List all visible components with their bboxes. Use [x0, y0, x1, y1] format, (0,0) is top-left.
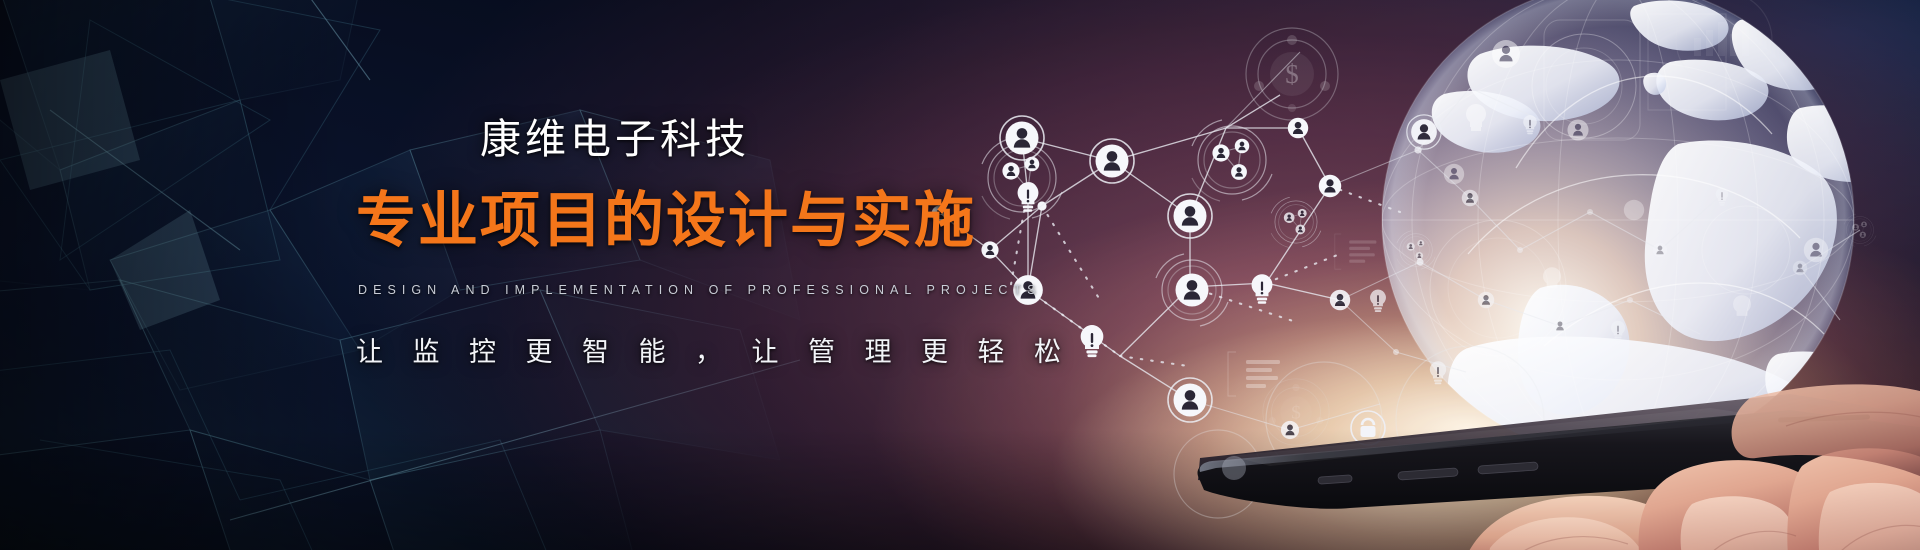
lightbulb-icon: [1252, 274, 1273, 304]
tagline: 让 监 控 更 智 能 ， 让 管 理 更 轻 松: [356, 330, 1072, 369]
person-icon: [1552, 318, 1567, 333]
bar-chart-icon: [1676, 0, 1772, 88]
person-icon: [1330, 290, 1350, 310]
person-icon: [1090, 139, 1134, 183]
network-cluster-icon: [1156, 254, 1228, 326]
person-icon: [1653, 243, 1668, 258]
dollar-icon: [1246, 28, 1338, 120]
lightbulb-icon: [1370, 290, 1386, 312]
person-icon: [1168, 194, 1212, 238]
brand-title: 康维电子科技: [480, 105, 750, 165]
lightbulb-icon: [1018, 182, 1039, 212]
page-title: 专业项目的设计与实施: [356, 172, 976, 259]
hero-banner: .ln { stroke:#e9eaf0; stroke-opacity:.80…: [0, 0, 1920, 550]
person-icon: [1478, 292, 1495, 309]
bar-chart-icon: [1335, 234, 1377, 269]
lightbulb-icon: [1611, 321, 1625, 341]
network-cluster-icon: [1271, 197, 1321, 247]
person-icon: [1407, 115, 1441, 149]
lightbulb-icon: [1523, 115, 1537, 134]
lightbulb-icon: [1081, 325, 1104, 357]
person-icon: [1793, 261, 1808, 276]
subtitle-english: DESIGN AND IMPLEMENTATION OF PROFESSIONA…: [358, 283, 1042, 297]
person-icon: [1462, 190, 1479, 207]
lightbulb-icon: [1716, 188, 1729, 206]
person-icon: [1288, 118, 1308, 138]
person-icon: [1319, 175, 1341, 197]
network-cluster-icon: [1192, 120, 1272, 201]
hero-copy: 康维电子科技 专业项目的设计与实施 DESIGN AND IMPLEMENTAT…: [0, 0, 1010, 550]
hand-holding-phone: [1190, 372, 1920, 550]
